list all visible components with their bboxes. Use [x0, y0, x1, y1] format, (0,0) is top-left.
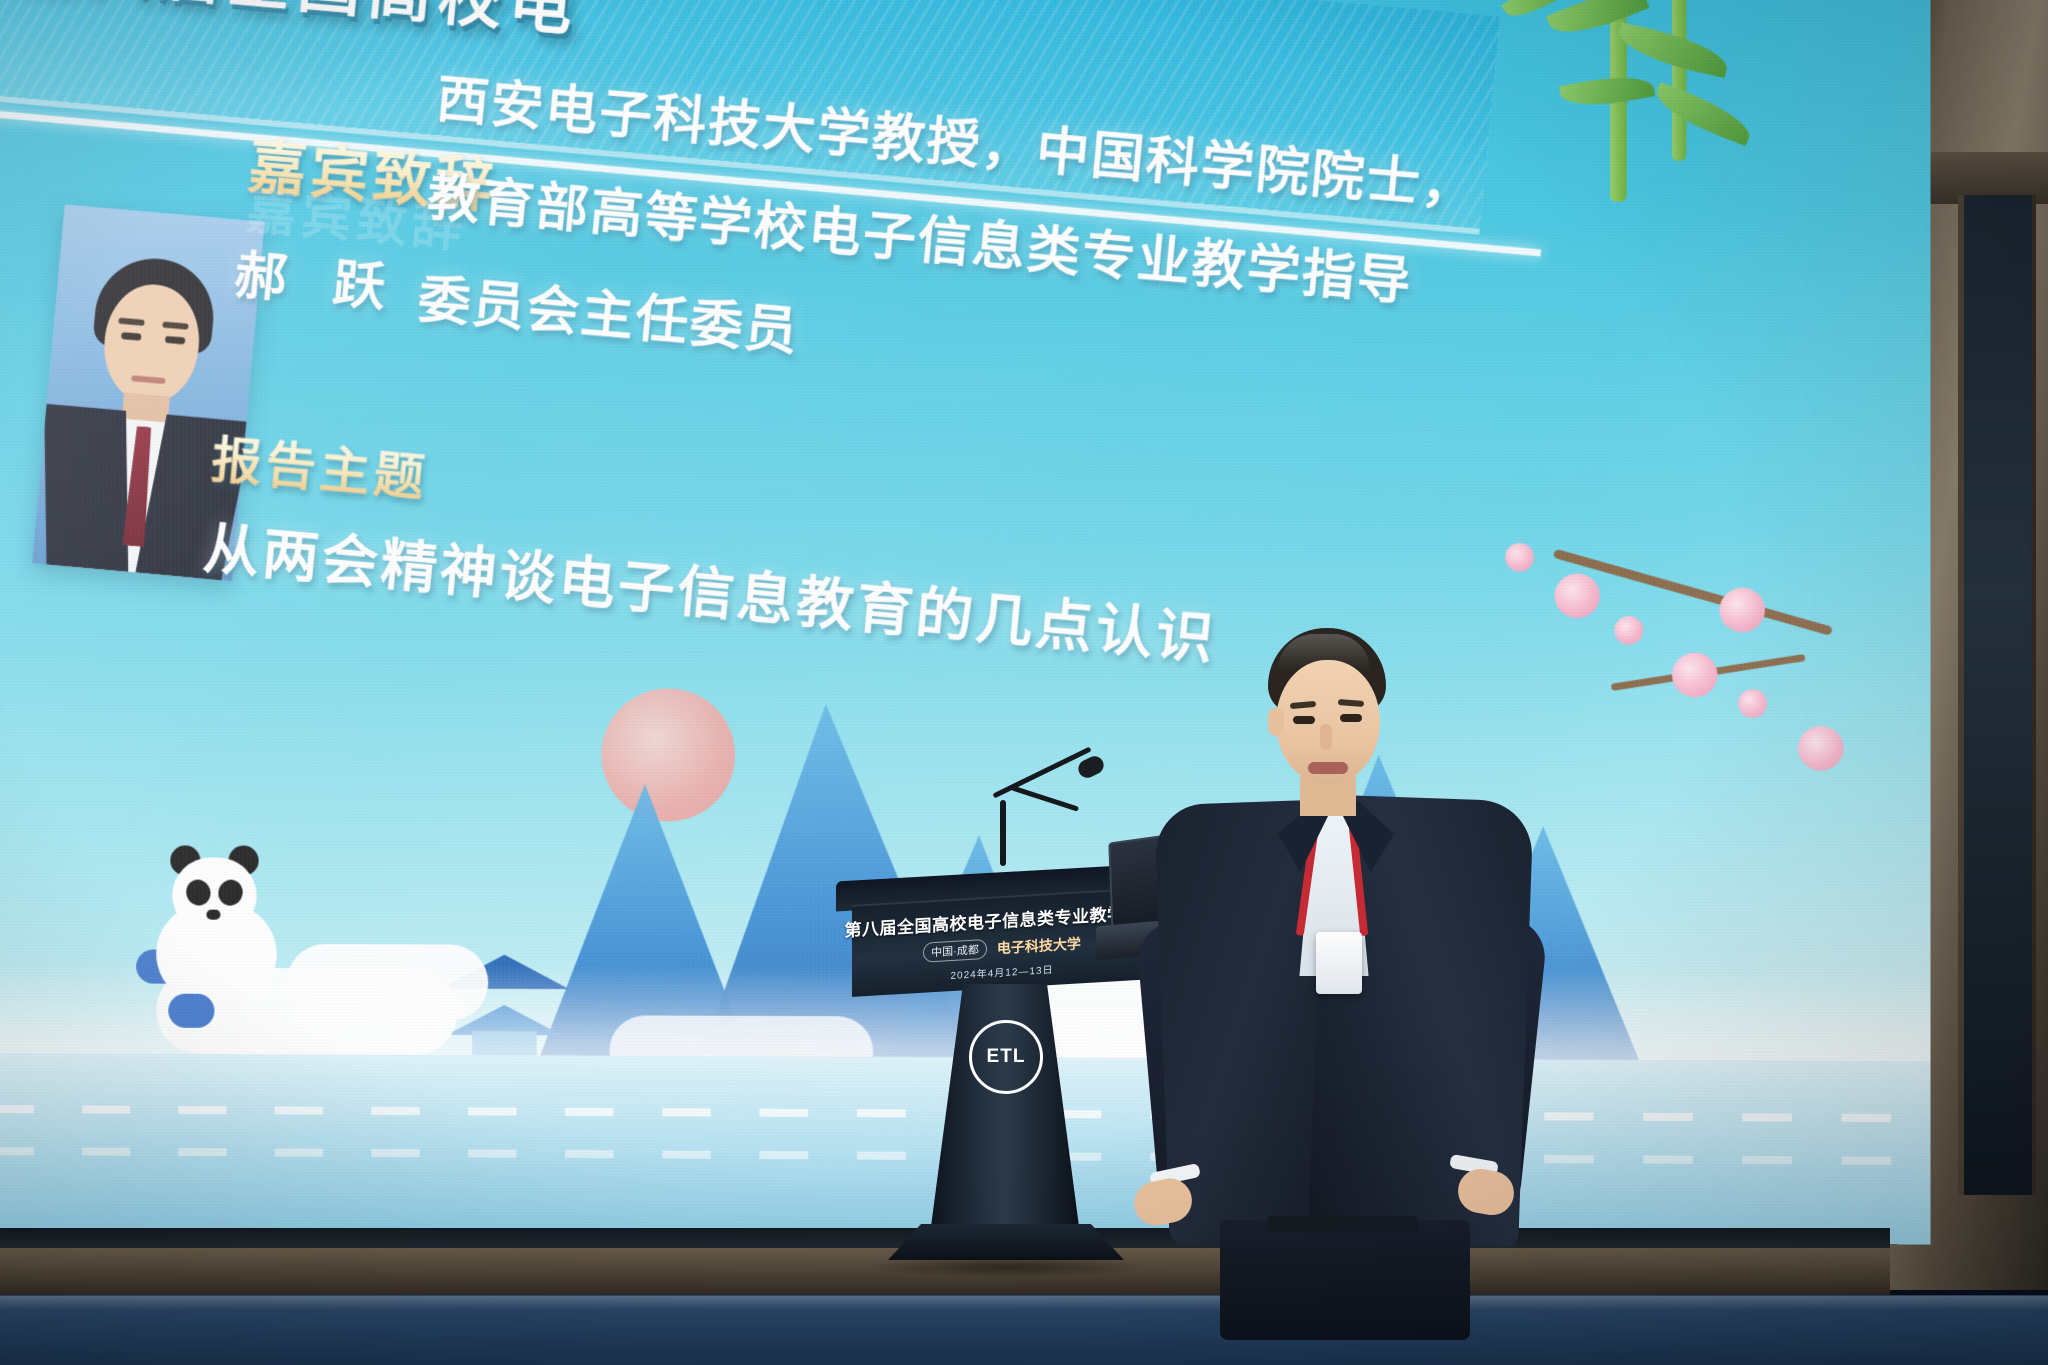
podium-university-logo: 电子科技大学 [997, 933, 1081, 958]
cloud-shape [287, 944, 488, 1021]
podium-logo-row: 中国·成都 电子科技大学 [923, 933, 1081, 962]
speaker-name-badge [1316, 932, 1362, 994]
podium-floor-shadow [866, 1256, 1150, 1278]
podium-host-city-logo: 中国·成都 [923, 939, 987, 963]
podium-base [888, 1224, 1124, 1260]
speaker-nose [1320, 724, 1332, 750]
report-topic-label: 报告主题 [209, 420, 432, 511]
blossom-flower [1738, 689, 1767, 717]
speaker-waist [1220, 1220, 1470, 1340]
speaker-eye [1340, 714, 1362, 722]
slide-speaker-name: 郝 跃 [232, 232, 406, 322]
panda-leg [168, 994, 214, 1028]
slide-affiliation-line-3: 委员会主任委员 [415, 256, 803, 365]
speaker-belt [1268, 1216, 1418, 1232]
speaker-ear [1268, 708, 1284, 736]
speaker-mouth [1308, 762, 1348, 774]
etl-brand-logo: ETL [969, 1020, 1043, 1094]
panda-nose [206, 910, 220, 920]
wall-dark-panel [1958, 195, 2036, 1195]
photo-scene: 第八届全国高校电 嘉宾致辞 嘉宾致辞 郝 跃 西安电子科技大学教授，中国科学院院… [0, 0, 2048, 1365]
keynote-speaker-person [1140, 620, 1560, 1320]
blossom-flower [1798, 726, 1844, 771]
report-topic-title: 从两会精神谈电子信息教育的几点认识 [200, 503, 1220, 676]
microphone-stand [1000, 800, 1006, 866]
speaker-eye [1293, 716, 1315, 724]
